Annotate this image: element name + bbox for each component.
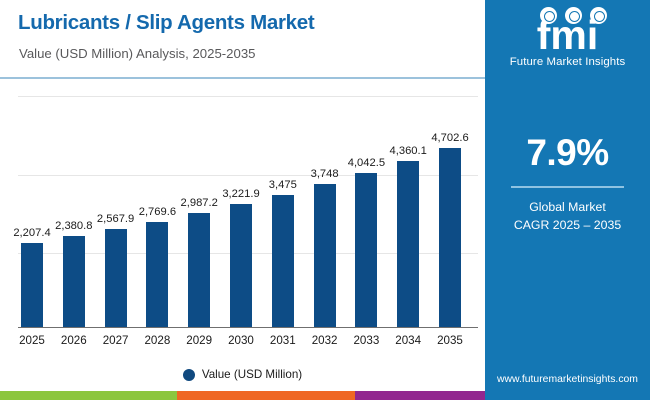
color-strip (0, 391, 485, 400)
x-axis-line (18, 327, 478, 328)
legend-marker-icon (183, 369, 195, 381)
bar-group[interactable]: 3,748 (314, 184, 336, 327)
strip-segment-2 (355, 391, 485, 400)
cagr-block: 7.9% Global Market CAGR 2025 – 2035 (485, 132, 650, 235)
logo-wordmark: fmi (485, 17, 650, 55)
brand-panel: fmi Future Market Insights 7.9% Global M… (485, 0, 650, 400)
bar[interactable] (21, 243, 43, 327)
bar-group[interactable]: 4,702.6 (439, 148, 461, 327)
bar[interactable] (397, 161, 419, 327)
x-axis-label: 2033 (344, 334, 388, 347)
bar-value-label: 2,207.4 (13, 227, 50, 239)
bar-group[interactable]: 2,207.4 (21, 243, 43, 327)
cagr-caption-line2: CAGR 2025 – 2035 (485, 217, 650, 235)
bar-group[interactable]: 2,987.2 (188, 213, 210, 327)
bar[interactable] (230, 204, 252, 327)
chart-panel: Lubricants / Slip Agents Market Value (U… (0, 0, 485, 400)
bar-value-label: 2,987.2 (181, 197, 218, 209)
x-axis-label: 2027 (94, 334, 138, 347)
bar-group[interactable]: 4,042.5 (355, 173, 377, 327)
bar[interactable] (314, 184, 336, 327)
bar[interactable] (272, 195, 294, 327)
x-axis-label: 2031 (261, 334, 305, 347)
page-subtitle: Value (USD Million) Analysis, 2025-2035 (19, 46, 256, 61)
x-axis-label: 2034 (386, 334, 430, 347)
x-axis-label: 2026 (52, 334, 96, 347)
bar[interactable] (188, 213, 210, 327)
x-axis-label: 2035 (428, 334, 472, 347)
bar-value-label: 4,702.6 (431, 132, 468, 144)
bar-value-label: 2,567.9 (97, 213, 134, 225)
page-title: Lubricants / Slip Agents Market (18, 11, 314, 35)
bar-value-label: 2,380.8 (55, 220, 92, 232)
x-axis-label: 2032 (303, 334, 347, 347)
x-axis-label: 2025 (10, 334, 54, 347)
logo-tagline: Future Market Insights (485, 56, 650, 68)
bar[interactable] (105, 229, 127, 327)
bar[interactable] (355, 173, 377, 327)
x-axis-label: 2030 (219, 334, 263, 347)
bar-value-label: 3,475 (269, 179, 297, 191)
chart-infographic: Lubricants / Slip Agents Market Value (U… (0, 0, 650, 400)
strip-segment-0 (0, 391, 177, 400)
cagr-caption-line1: Global Market (485, 199, 650, 217)
logo-chart-icon (565, 7, 582, 24)
cagr-divider (511, 186, 624, 188)
bar-value-label: 3,221.9 (222, 188, 259, 200)
chart-legend: Value (USD Million) (0, 368, 485, 381)
bar-group[interactable]: 2,567.9 (105, 229, 127, 327)
gridline (18, 96, 478, 97)
cagr-value: 7.9% (485, 132, 650, 174)
logo-world-icon (590, 7, 607, 24)
header-divider (0, 77, 485, 79)
fmi-logo: fmi Future Market Insights (485, 7, 650, 68)
bar-value-label: 4,042.5 (348, 157, 385, 169)
logo-globe-icon (540, 7, 557, 24)
strip-segment-1 (177, 391, 355, 400)
x-axis-label: 2029 (177, 334, 221, 347)
bar-group[interactable]: 4,360.1 (397, 161, 419, 327)
x-axis-label: 2028 (135, 334, 179, 347)
bar[interactable] (63, 236, 85, 327)
website-url: www.futuremarketinsights.com (485, 374, 650, 385)
bar-group[interactable]: 3,221.9 (230, 204, 252, 327)
bar-value-label: 4,360.1 (390, 145, 427, 157)
bar-group[interactable]: 2,769.6 (146, 222, 168, 327)
bar[interactable] (439, 148, 461, 327)
legend-label: Value (USD Million) (202, 368, 302, 381)
bar[interactable] (146, 222, 168, 327)
bar-value-label: 3,748 (311, 168, 339, 180)
bar-group[interactable]: 3,475 (272, 195, 294, 327)
bar-value-label: 2,769.6 (139, 206, 176, 218)
bar-group[interactable]: 2,380.8 (63, 236, 85, 327)
